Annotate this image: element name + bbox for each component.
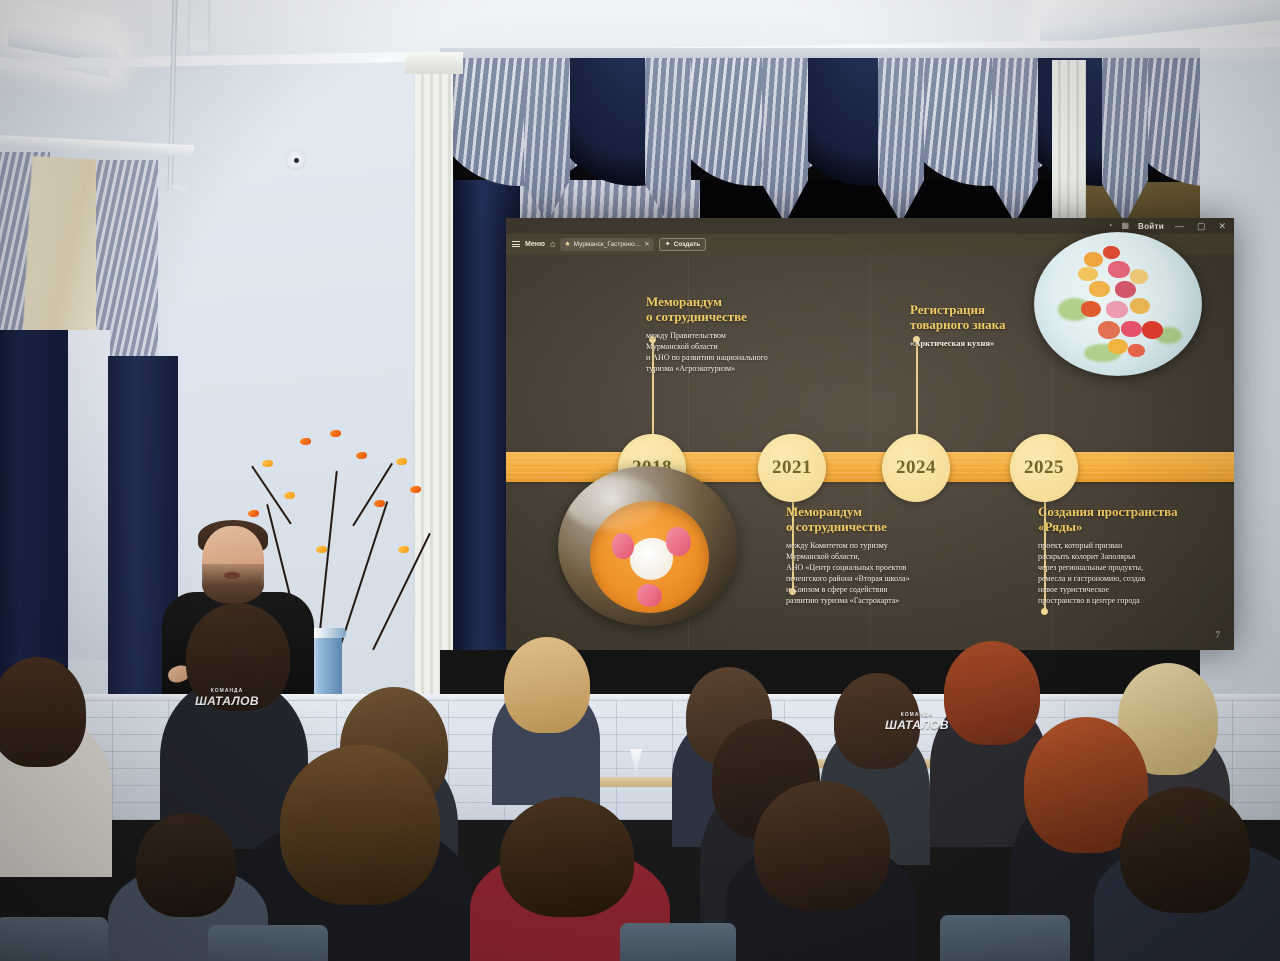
tab-title: Мурманск_Гастроно… (574, 241, 642, 248)
arctic-salad-photo (1034, 232, 1202, 376)
attendee-shirt-text: КОМАНДА ШАТАЛОВ (172, 689, 282, 708)
blossom (374, 500, 385, 507)
block-title: Создания пространства«Ряды» (1038, 504, 1228, 535)
projection-screen: ◔ ▦ Войти — ▢ ✕ Меню ⌂ ★ Мурманск_Гастро… (506, 218, 1234, 650)
chair-back (940, 915, 1070, 961)
tab-close-icon[interactable]: ✕ (644, 240, 649, 248)
timeline-stem-dot (1041, 608, 1048, 615)
blossom (262, 460, 273, 467)
block-title: Меморандумо сотрудничестве (786, 504, 996, 535)
menu-icon[interactable] (512, 241, 520, 247)
shirt-line2: ШАТАЛОВ (172, 695, 282, 708)
valance-tail (1102, 58, 1148, 223)
menu-label[interactable]: Меню (525, 241, 545, 248)
attendee-head (1120, 787, 1250, 913)
home-icon[interactable]: ⌂ (550, 240, 555, 249)
attendee-head (136, 813, 236, 917)
valance-tail (645, 58, 691, 223)
browser-tab[interactable]: ★ Мурманск_Гастроно… ✕ (560, 238, 653, 251)
column-capital (405, 52, 463, 74)
blossom (356, 452, 367, 459)
slide-canvas: 2018 2021 2024 2025 Меморандумо сотрудни… (506, 254, 1234, 650)
timeline-year-label: 2021 (772, 457, 812, 479)
screenshot-root: ◔ ▦ Войти — ▢ ✕ Меню ⌂ ★ Мурманск_Гастро… (0, 0, 1280, 961)
attendee-head (754, 781, 890, 911)
stage-valance (440, 58, 1200, 233)
blossom (396, 458, 407, 465)
valance-tail (524, 58, 570, 223)
create-button[interactable]: ✦ Создать (659, 238, 707, 251)
blossom (410, 486, 421, 493)
grid-icon[interactable]: ▦ (1121, 222, 1129, 230)
timeline-year-label: 2024 (896, 457, 936, 479)
timeline-stem (916, 340, 918, 436)
star-icon: ★ (564, 240, 570, 248)
timeline-node-2021[interactable]: 2021 (758, 434, 826, 502)
valance-tail (992, 58, 1038, 223)
shirt-line2: ШАТАЛОВ (876, 719, 958, 732)
login-button[interactable]: Войти (1138, 222, 1164, 231)
bowl-highlight (565, 476, 662, 530)
wine-glass (628, 749, 644, 775)
blossom (248, 510, 259, 517)
attendee-head (944, 641, 1040, 745)
chair-back (208, 925, 328, 961)
timeline-block-2018: Меморандумо сотрудничестве между Правите… (646, 294, 856, 374)
timeline-node-2024[interactable]: 2024 (882, 434, 950, 502)
timeline-block-2025: Создания пространства«Ряды» проект, кото… (1038, 504, 1228, 606)
close-button[interactable]: ✕ (1216, 222, 1228, 231)
maximize-button[interactable]: ▢ (1195, 222, 1208, 231)
block-body: между Комитетом по туризмуМурманской обл… (786, 540, 996, 606)
attendee-shirt-text: КОМАНДА ШАТАЛОВ (876, 713, 958, 732)
block-title: Меморандумо сотрудничестве (646, 294, 856, 325)
attendee-head (500, 797, 634, 917)
presenter-mouth (224, 572, 240, 579)
clock-icon[interactable]: ◔ (1108, 222, 1113, 230)
attendee-head (280, 745, 440, 905)
block-body: проект, который призванраскрыть колорит … (1038, 540, 1228, 606)
timeline-node-2025[interactable]: 2025 (1010, 434, 1078, 502)
attendee-head (0, 657, 86, 767)
minimize-button[interactable]: — (1173, 222, 1186, 231)
plus-icon: ✦ (665, 240, 671, 248)
valance-tail (762, 58, 808, 223)
architectural-column (1052, 60, 1086, 240)
architectural-column (415, 60, 453, 700)
blossom (398, 546, 409, 553)
wall-panel (187, 0, 210, 54)
attendee-head (504, 637, 590, 733)
blossom (284, 492, 295, 499)
chair-back (0, 917, 108, 961)
create-label: Создать (674, 241, 701, 248)
wall-outlet (286, 150, 306, 170)
presenter-beard (202, 564, 264, 604)
timeline-block-2021: Меморандумо сотрудничестве между Комитет… (786, 504, 996, 606)
blossom (300, 438, 311, 445)
chair-back (620, 923, 736, 961)
blossom (330, 430, 341, 437)
valance-tail (878, 58, 924, 223)
block-body: между ПравительствомМурманской областии … (646, 330, 856, 374)
audience: КОМАНДА ШАТАЛОВ КОМАНДА ШАТАЛОВ (0, 631, 1280, 961)
timeline-year-label: 2025 (1024, 457, 1064, 479)
orange-soup-bowl-photo (558, 466, 738, 626)
